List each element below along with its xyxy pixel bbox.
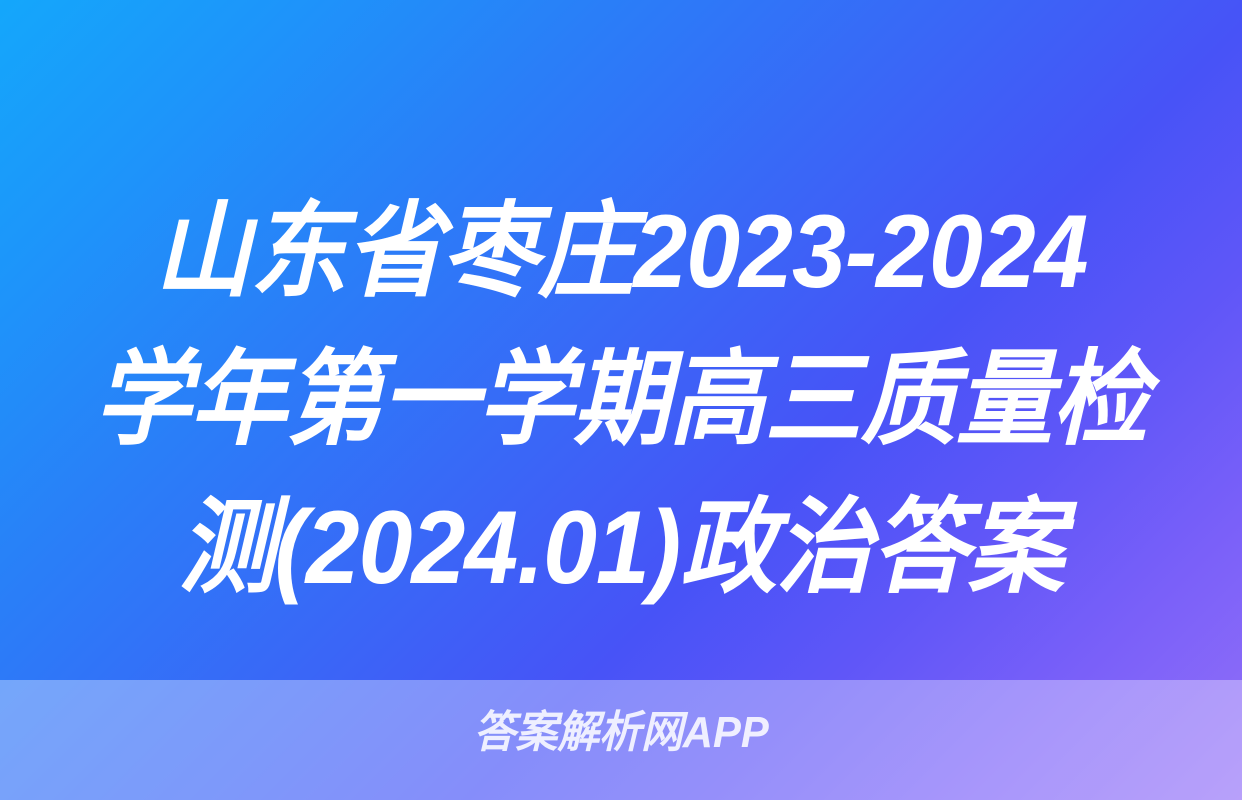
watermark: 答案解析网APP xyxy=(0,705,1242,761)
title-line-1: 山东省枣庄2023-2024 xyxy=(43,178,1198,326)
title-line-2: 学年第一学期高三质量检 xyxy=(43,326,1198,474)
watermark-brand-label: 答案解析网APP xyxy=(474,705,769,761)
page-title: 山东省枣庄2023-2024 学年第一学期高三质量检 测(2024.01)政治答… xyxy=(0,178,1242,622)
title-line-3: 测(2024.01)政治答案 xyxy=(43,474,1198,622)
exam-answer-cover-card: 山东省枣庄2023-2024 学年第一学期高三质量检 测(2024.01)政治答… xyxy=(0,0,1242,800)
